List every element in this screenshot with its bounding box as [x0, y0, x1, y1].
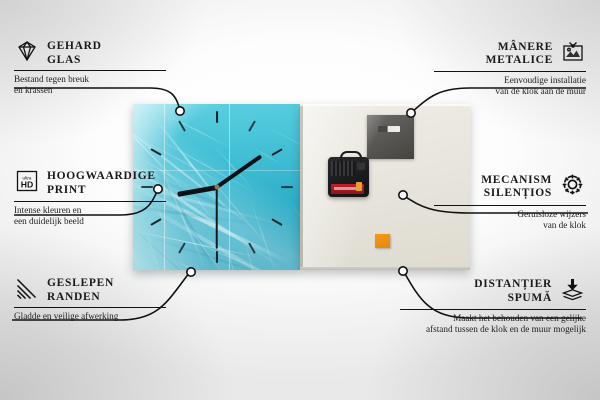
gear-icon — [559, 172, 586, 202]
clock-mechanism — [328, 157, 369, 197]
picture-hanger-icon — [560, 40, 586, 68]
battery — [331, 184, 364, 194]
callout-rule — [400, 309, 586, 310]
foam-spacer — [375, 234, 390, 248]
callout-rule — [434, 71, 586, 72]
metal-hanger-plate — [367, 115, 414, 159]
callout-title: MÂNERE METALICE — [486, 41, 553, 68]
callout-title: GESLEPEN RANDEN — [47, 277, 114, 304]
callout-description: Intense kleuren en een duidelijk beeld — [14, 205, 166, 228]
callout-description: Maakt het behouden van een gelijke afsta… — [400, 313, 586, 336]
callout-metal-handles[interactable]: MÂNERE METALICE Eenvoudige installatie v… — [434, 40, 586, 98]
callout-hd-print[interactable]: ultra HD HOOGWAARDIGE PRINT Intense kleu… — [14, 169, 166, 228]
callout-rule — [434, 205, 586, 206]
callout-title: HOOGWAARDIGE PRINT — [47, 170, 156, 197]
svg-text:HD: HD — [21, 180, 33, 190]
callout-title: DISTANȚIER SPUMĂ — [474, 278, 552, 305]
callout-foam-spacer[interactable]: DISTANȚIER SPUMĂ Maakt het behouden van … — [400, 277, 586, 336]
diagonal-lines-icon — [14, 277, 40, 304]
arrow-onto-layers-icon — [559, 277, 586, 306]
callout-rule — [14, 307, 166, 308]
product-image — [133, 104, 470, 272]
callout-description: Gladde en veilige afwerking — [14, 311, 166, 322]
callout-polished-edges[interactable]: GESLEPEN RANDEN Gladde en veilige afwerk… — [14, 277, 166, 322]
callout-description: Geruisloze wijzers van de klok — [434, 209, 586, 232]
callout-description: Bestand tegen breuk en krassen — [14, 74, 166, 97]
clock-center-cap — [214, 185, 219, 190]
callout-tempered-glass[interactable]: GEHARD GLAS Bestand tegen breuk en krass… — [14, 40, 166, 97]
infographic-canvas: GEHARD GLAS Bestand tegen breuk en krass… — [0, 0, 600, 400]
ultra-hd-icon: ultra HD — [14, 169, 40, 198]
diamond-icon — [14, 40, 40, 67]
callout-description: Eenvoudige installatie van de klok aan d… — [434, 75, 586, 98]
callout-rule — [14, 70, 166, 71]
callout-rule — [14, 201, 166, 202]
callout-title: GEHARD GLAS — [47, 40, 102, 67]
callout-title: MECANISM SILENȚIOS — [481, 174, 552, 201]
callout-silent-mechanism[interactable]: MECANISM SILENȚIOS Geruisloze wijzers va… — [434, 172, 586, 232]
